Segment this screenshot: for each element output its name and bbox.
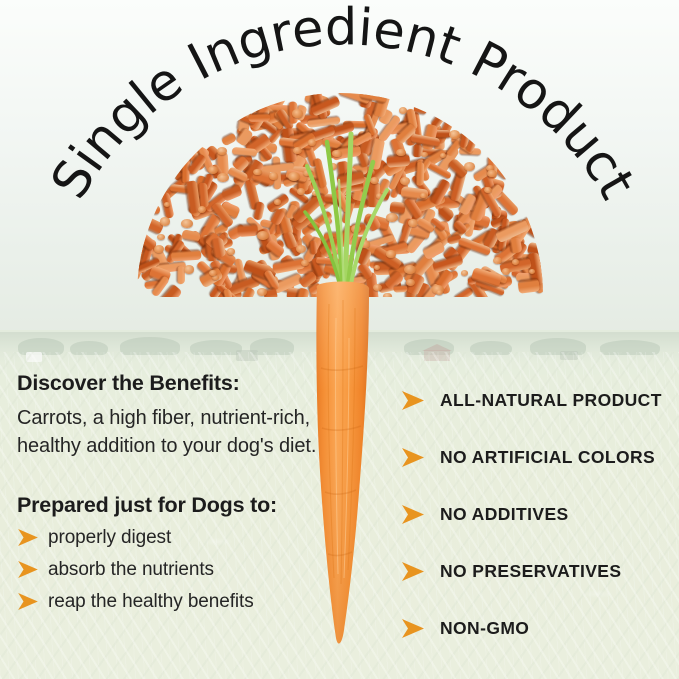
arrow-right-icon bbox=[401, 505, 425, 524]
prepared-item-label: absorb the nutrients bbox=[48, 559, 214, 581]
carrot-stick-cut-end bbox=[502, 268, 511, 275]
list-item: ALL-NATURAL PRODUCT bbox=[401, 372, 671, 429]
right-claims-column: ALL-NATURAL PRODUCTNO ARTIFICIAL COLORSN… bbox=[401, 372, 671, 657]
carrot-stick bbox=[416, 161, 425, 185]
list-item: properly digest bbox=[17, 522, 317, 554]
carrot-stick-cut-end bbox=[198, 206, 207, 213]
prepared-item-label: properly digest bbox=[48, 527, 171, 549]
carrot-stick bbox=[232, 147, 258, 157]
carrot-stick-cut-end bbox=[160, 217, 170, 225]
carrot-stick-cut-end bbox=[257, 288, 267, 296]
carrot-stick-cut-end bbox=[404, 265, 416, 275]
carrot-stick-cut-end bbox=[436, 290, 443, 295]
arrow-right-icon bbox=[17, 593, 39, 610]
carrot-stick-cut-end bbox=[461, 270, 468, 276]
carrot-stick-cut-end bbox=[157, 234, 165, 240]
benefits-heading: Discover the Benefits: bbox=[17, 370, 317, 397]
claim-label: NO ARTIFICIAL COLORS bbox=[440, 447, 655, 468]
list-item: NO ADDITIVES bbox=[401, 486, 671, 543]
carrot-stick-cut-end bbox=[184, 265, 195, 274]
list-item: reap the healthy benefits bbox=[17, 586, 317, 618]
carrot-stick-cut-end bbox=[484, 187, 492, 193]
carrot-stick-cut-end bbox=[227, 248, 235, 254]
carrot-stick bbox=[146, 204, 160, 215]
carrot-stick bbox=[181, 229, 201, 242]
carrot-stick bbox=[170, 250, 201, 262]
list-item: NO ARTIFICIAL COLORS bbox=[401, 429, 671, 486]
carrot-stick bbox=[248, 113, 270, 121]
infographic-canvas: Single Ingredient Product Discover the B… bbox=[0, 0, 679, 679]
arrow-right-icon bbox=[401, 391, 425, 410]
carrot-stick bbox=[237, 223, 258, 237]
claim-label: ALL-NATURAL PRODUCT bbox=[440, 390, 662, 411]
arrow-right-icon bbox=[401, 562, 425, 581]
claim-label: NO ADDITIVES bbox=[440, 504, 569, 525]
prepared-item-label: reap the healthy benefits bbox=[48, 591, 254, 613]
carrot-stick-cut-end bbox=[269, 172, 278, 180]
carrot-stick-cut-end bbox=[529, 269, 535, 274]
benefits-body: Carrots, a high fiber, nutrient-rich, he… bbox=[17, 404, 317, 461]
carrot-stick-cut-end bbox=[274, 199, 281, 204]
carrot-stick bbox=[413, 102, 428, 115]
carrot-stick bbox=[220, 184, 242, 202]
carrot-stick-cut-end bbox=[181, 219, 193, 228]
left-text-column: Discover the Benefits: Carrots, a high f… bbox=[17, 370, 317, 618]
arrow-right-icon bbox=[17, 561, 39, 578]
carrot-stick-cut-end bbox=[421, 152, 427, 157]
carrot-stick-cut-end bbox=[464, 162, 475, 171]
arrow-right-icon bbox=[17, 529, 39, 546]
arrow-right-icon bbox=[401, 619, 425, 638]
carrot-stick-cut-end bbox=[408, 219, 418, 227]
carrot-stick-cut-end bbox=[406, 279, 415, 286]
claim-label: NON-GMO bbox=[440, 618, 529, 639]
list-item: NON-GMO bbox=[401, 600, 671, 657]
prepared-benefits-list: properly digestabsorb the nutrientsreap … bbox=[17, 522, 317, 618]
list-item: NO PRESERVATIVES bbox=[401, 543, 671, 600]
carrot-stick-cut-end bbox=[154, 245, 164, 253]
prepared-heading: Prepared just for Dogs to: bbox=[17, 493, 317, 518]
product-claims-list: ALL-NATURAL PRODUCTNO ARTIFICIAL COLORSN… bbox=[401, 372, 671, 657]
carrot-green-tops bbox=[283, 108, 403, 298]
claim-label: NO PRESERVATIVES bbox=[440, 561, 621, 582]
carrot-stick-cut-end bbox=[209, 270, 217, 276]
carrot-stick-cut-end bbox=[512, 259, 519, 265]
arrow-right-icon bbox=[401, 448, 425, 467]
carrot-stick-cut-end bbox=[217, 173, 229, 183]
carrot-stick-cut-end bbox=[487, 170, 497, 178]
carrot-stick bbox=[221, 133, 237, 147]
carrot-stick-cut-end bbox=[440, 153, 446, 158]
list-item: absorb the nutrients bbox=[17, 554, 317, 586]
